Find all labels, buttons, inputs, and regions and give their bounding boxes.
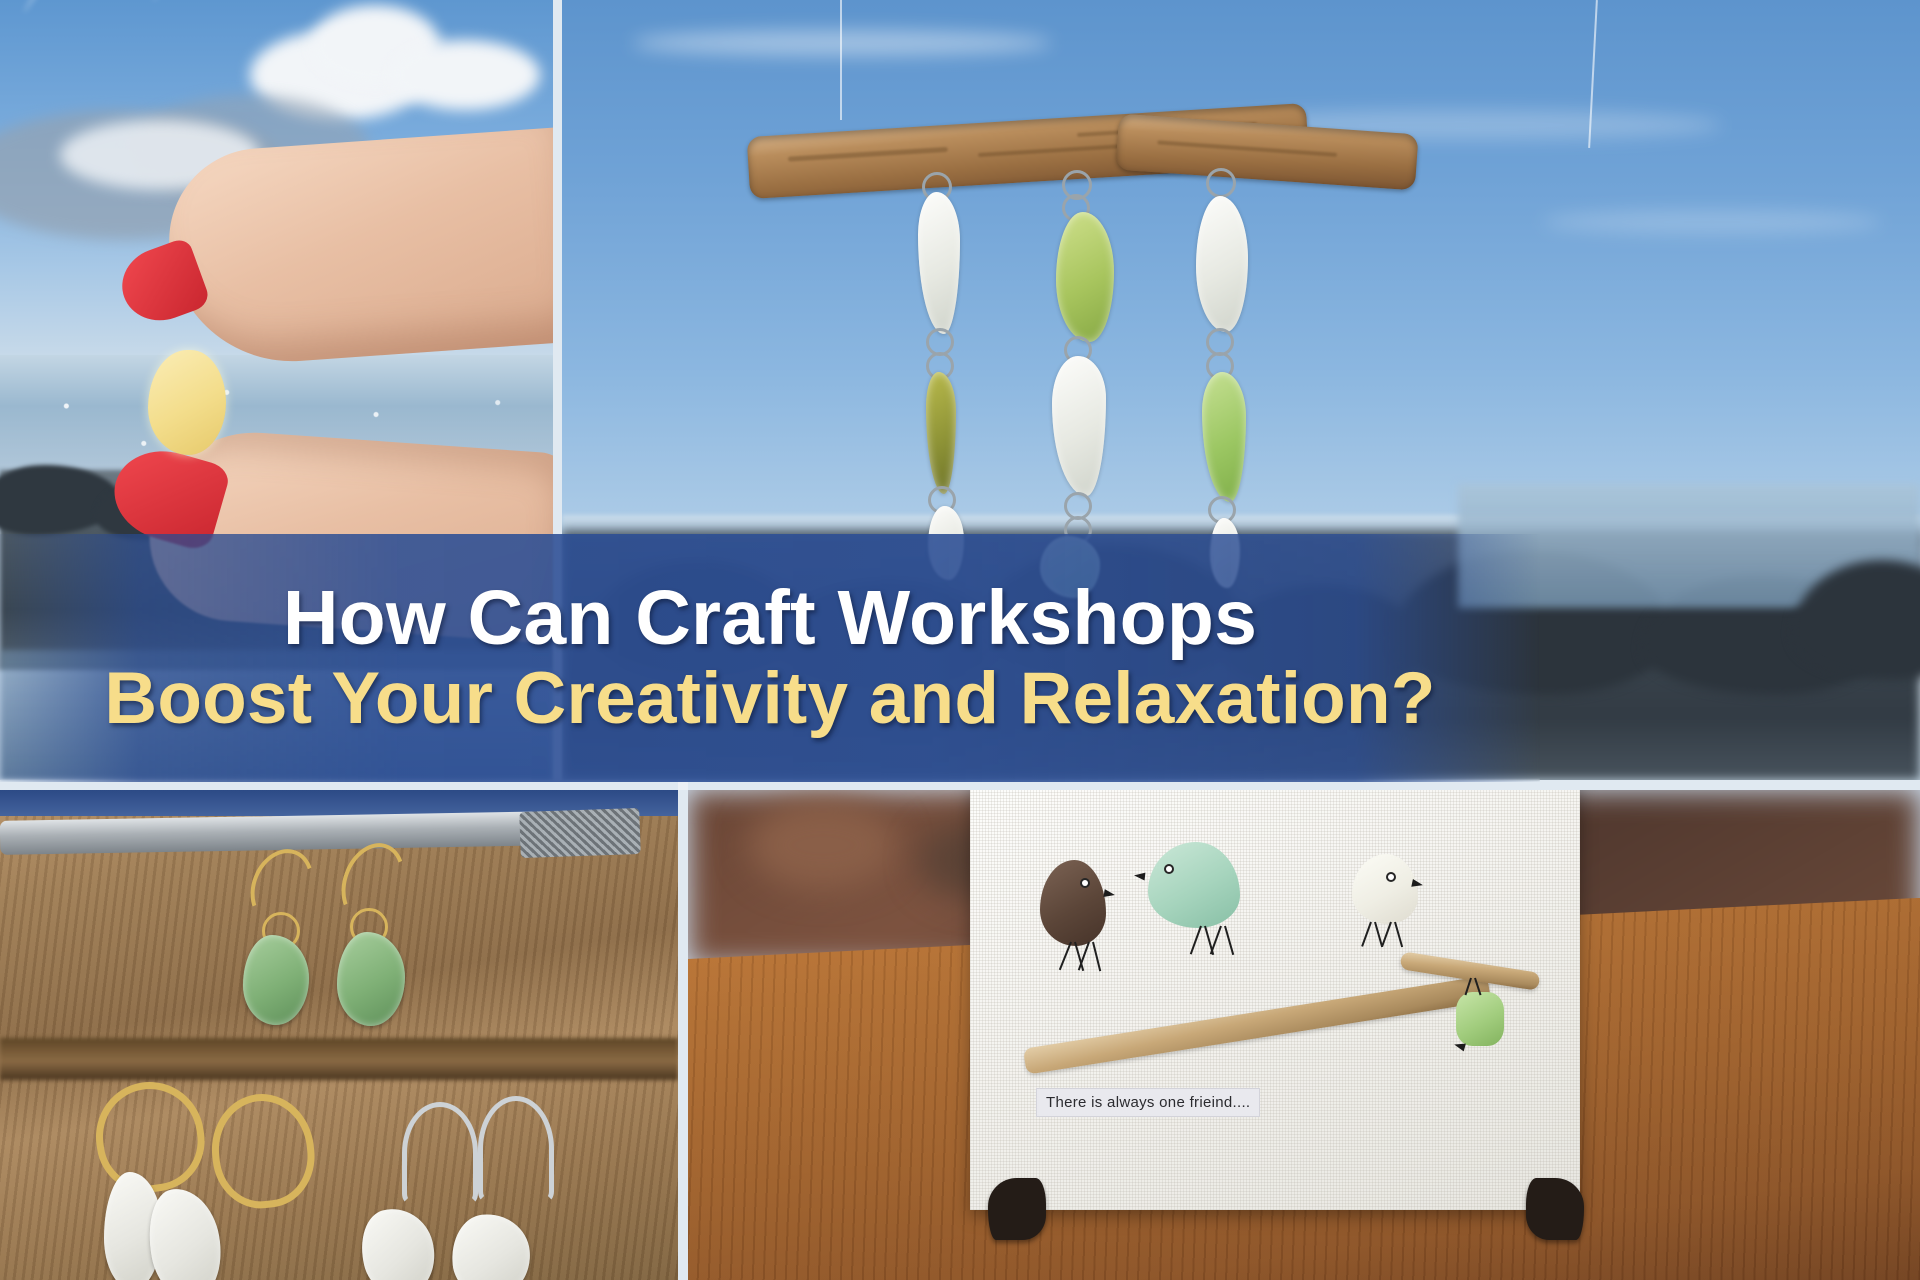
poster-title-line1: How Can Craft Workshops	[283, 578, 1257, 658]
cloud	[390, 40, 540, 110]
sea-glass-piece	[1056, 212, 1114, 342]
easel-holder-right	[1526, 1178, 1584, 1240]
panel-sea-glass-earrings	[0, 790, 678, 1280]
bird-beak	[1134, 871, 1146, 880]
poster-root: There is always one frieind.... How Can …	[0, 0, 1920, 1280]
cloud-wisp	[632, 30, 1052, 56]
jump-ring	[1206, 168, 1236, 198]
art-canvas: There is always one frieind....	[970, 790, 1580, 1210]
easel-holder-left	[988, 1178, 1046, 1240]
hanging-line	[840, 0, 842, 120]
bird-green-hanging	[1456, 992, 1504, 1046]
wood-grain	[788, 147, 948, 162]
silver-earring-hook	[478, 1096, 554, 1202]
poster-title-line2: Boost Your Creativity and Relaxation?	[104, 660, 1435, 737]
canvas-caption-label: There is always one frieind....	[1036, 1088, 1260, 1117]
wood-plank-edge	[0, 1038, 678, 1080]
sea-glass-earring-drop	[337, 932, 405, 1026]
panel-divider-vertical	[678, 780, 688, 1280]
index-finger	[163, 126, 553, 370]
bird-beak	[1103, 889, 1115, 899]
title-banner-content: How Can Craft Workshops Boost Your Creat…	[0, 534, 1540, 782]
wood-grain-texture	[0, 790, 678, 1280]
background-blob	[748, 800, 898, 890]
bird-eye	[1388, 874, 1394, 880]
yellow-sea-glass	[148, 350, 226, 455]
wood-grain	[1157, 140, 1337, 157]
silver-earring-hook	[402, 1102, 478, 1204]
sea-glass-piece	[1196, 196, 1248, 332]
bird-eye	[1166, 866, 1172, 872]
title-banner: How Can Craft Workshops Boost Your Creat…	[0, 534, 1540, 782]
cloud-wisp	[1542, 210, 1882, 234]
tool-knurled-grip	[519, 808, 641, 858]
sea-glass-earring-drop	[243, 935, 309, 1025]
bird-eye	[1082, 880, 1088, 886]
panel-bird-canvas-art: There is always one frieind....	[688, 790, 1920, 1280]
